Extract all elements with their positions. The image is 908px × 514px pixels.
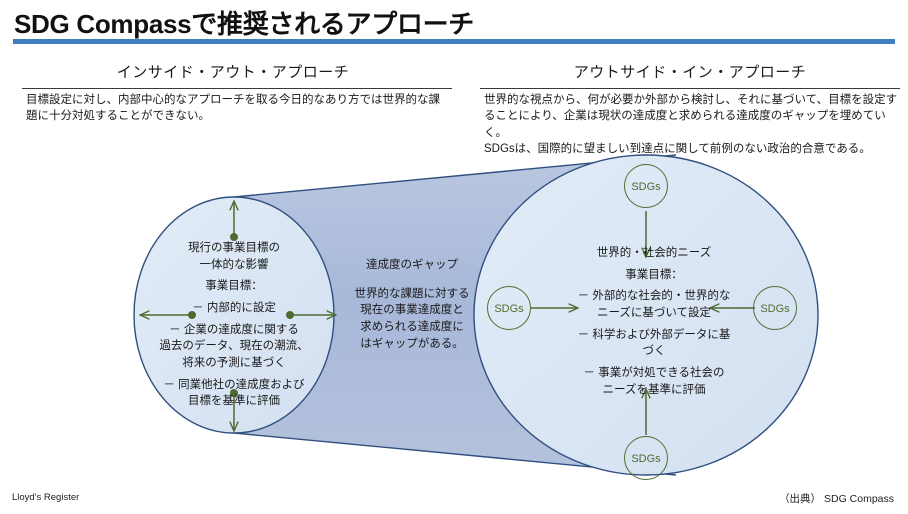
inside-out-line-2: 事業目標： [136,278,332,295]
divider-right-column [480,88,900,89]
title-underline-rule [13,39,895,44]
heading-outside-in-approach: アウトサイド・イン・アプローチ [480,61,900,82]
inside-out-line-7: － 同業他社の達成度および [136,377,332,394]
outside-in-line-2: － 外部的な社会的・世界的な [520,288,788,305]
page-title: SDG Compassで推奨されるアプローチ [14,4,474,41]
outside-in-line-0: 世界的・社会的ニーズ [520,245,788,262]
footer-organization: Lloyd's Register [12,492,79,503]
outside-in-line-3: ニーズに基づいて設定 [520,305,788,322]
outside-in-line-5: づく [520,343,788,360]
sdgs-bubble-right: SDGs [753,286,797,330]
footer-source: （出典） SDG Compass [779,491,894,506]
gap-line-3: はギャップがある。 [330,336,494,353]
sdgs-bubble-left: SDGs [487,286,531,330]
inside-out-line-5: 過去のデータ、現在の潮流、 [136,338,332,355]
outside-in-line-6: － 事業が対処できる社会の [520,365,788,382]
inside-out-line-4: － 企業の達成度に関する [136,322,332,339]
body-inside-out-approach: 目標設定に対し、内部中心的なアプローチを取る今日的なあり方では世界的な課題に十分… [26,92,450,125]
inside-out-line-6: 将来の予測に基づく [136,355,332,372]
outside-in-circle-text: 世界的・社会的ニーズ 事業目標： － 外部的な社会的・世界的な ニーズに基づいて… [520,245,788,398]
gap-text-block: 達成度のギャップ 世界的な課題に対する 現在の事業達成度と 求められる達成度に … [330,257,494,352]
outside-in-line-7: ニーズを基準に評価 [520,382,788,399]
divider-left-column [22,88,452,89]
gap-line-1: 現在の事業達成度と [330,302,494,319]
gap-title: 達成度のギャップ [330,257,494,274]
funnel-diagram: 現行の事業目標の 一体的な影響 事業目標： － 内部的に設定 － 企業の達成度に… [0,145,908,485]
inside-out-line-1: 一体的な影響 [136,257,332,274]
inside-out-line-3: － 内部的に設定 [136,300,332,317]
inside-out-line-0: 現行の事業目標の [136,240,332,257]
sdgs-bubble-bottom: SDGs [624,436,668,480]
inside-out-line-8: 目標を基準に評価 [136,393,332,410]
outside-in-line-4: － 科学および外部データに基 [520,327,788,344]
gap-line-0: 世界的な課題に対する [330,286,494,303]
heading-inside-out-approach: インサイド・アウト・アプローチ [18,61,448,82]
sdgs-bubble-top: SDGs [624,164,668,208]
gap-line-2: 求められる達成度に [330,319,494,336]
outside-in-line-1: 事業目標： [520,267,788,284]
inside-out-circle-text: 現行の事業目標の 一体的な影響 事業目標： － 内部的に設定 － 企業の達成度に… [136,240,332,410]
